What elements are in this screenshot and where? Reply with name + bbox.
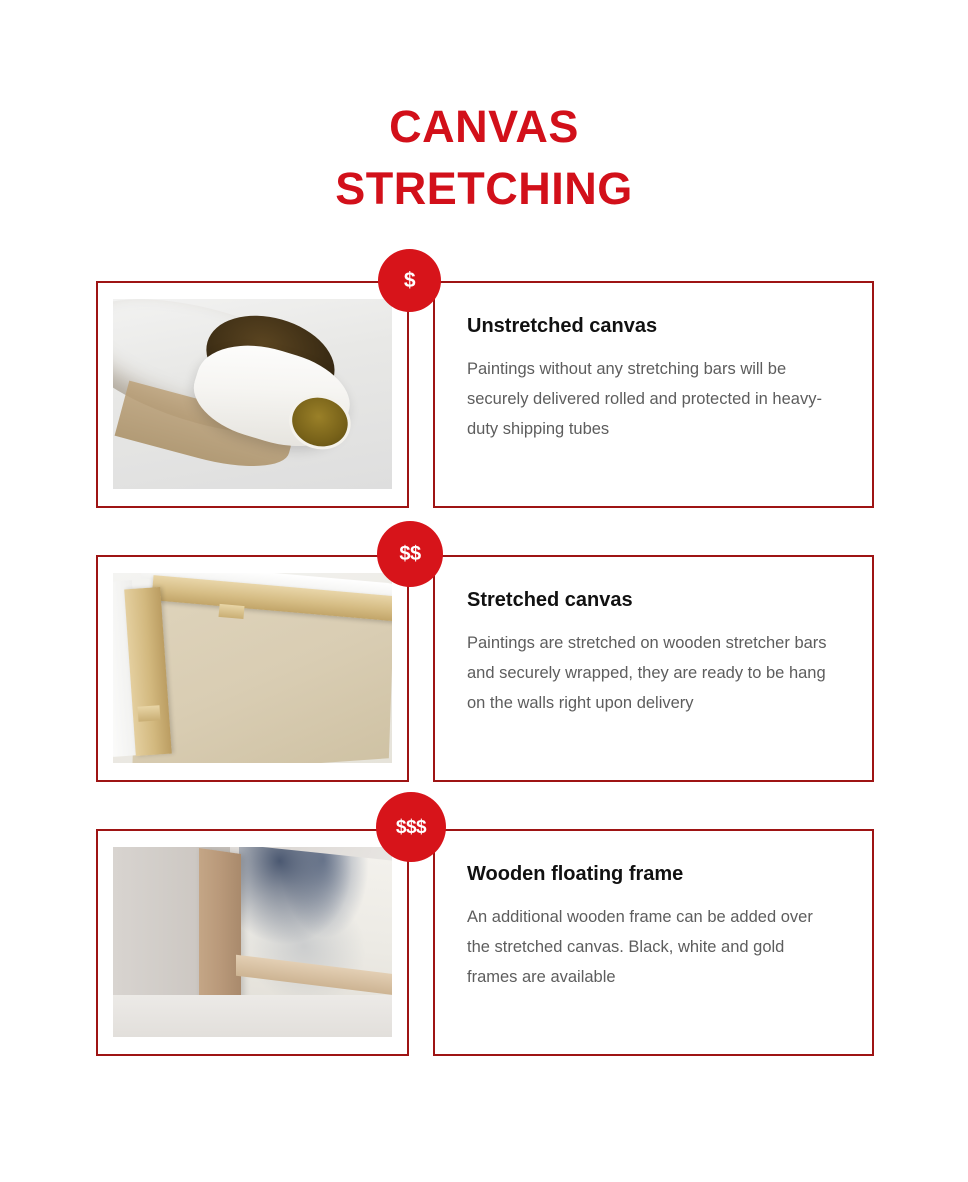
shipping-tube-rolled-canvas-photo [113,299,392,489]
option-title: Unstretched canvas [467,313,840,339]
option-description: Paintings are stretched on wooden stretc… [467,628,839,718]
price-badge-one-dollar: $ [378,249,441,312]
image-frame-unstretched-canvas: $ [96,281,409,508]
option-description: An additional wooden frame can be added … [467,902,839,992]
floor-surface-shape [113,995,392,1037]
canvas-stretching-infographic: CANVAS STRETCHING $ Unstretched canvas P… [0,0,968,1182]
page-title: CANVAS STRETCHING [0,96,968,220]
image-frame-wooden-floating-frame: $$$ [96,829,409,1056]
image-frame-stretched-canvas: $$ [96,555,409,782]
price-badge-two-dollar: $$ [377,521,443,587]
stretcher-wedge-a-shape [218,604,244,619]
stretcher-wedge-b-shape [138,705,161,722]
option-row-unstretched-canvas: $ Unstretched canvas Paintings without a… [0,281,968,508]
page-title-line-1: CANVAS [0,96,968,158]
options-list: $ Unstretched canvas Paintings without a… [0,281,968,1056]
text-card-unstretched-canvas: Unstretched canvas Paintings without any… [433,281,874,508]
option-row-stretched-canvas: $$ Stretched canvas Paintings are stretc… [0,555,968,782]
text-card-wooden-floating-frame: Wooden floating frame An additional wood… [433,829,874,1056]
option-title: Wooden floating frame [467,861,840,887]
option-description: Paintings without any stretching bars wi… [467,354,839,444]
option-title: Stretched canvas [467,587,840,613]
page-title-line-2: STRETCHING [0,158,968,220]
option-row-wooden-floating-frame: $$$ Wooden floating frame An additional … [0,829,968,1056]
stretched-canvas-wooden-bars-photo [113,573,392,763]
text-card-stretched-canvas: Stretched canvas Paintings are stretched… [433,555,874,782]
wooden-floating-frame-photo [113,847,392,1037]
price-badge-three-dollar: $$$ [376,792,446,862]
